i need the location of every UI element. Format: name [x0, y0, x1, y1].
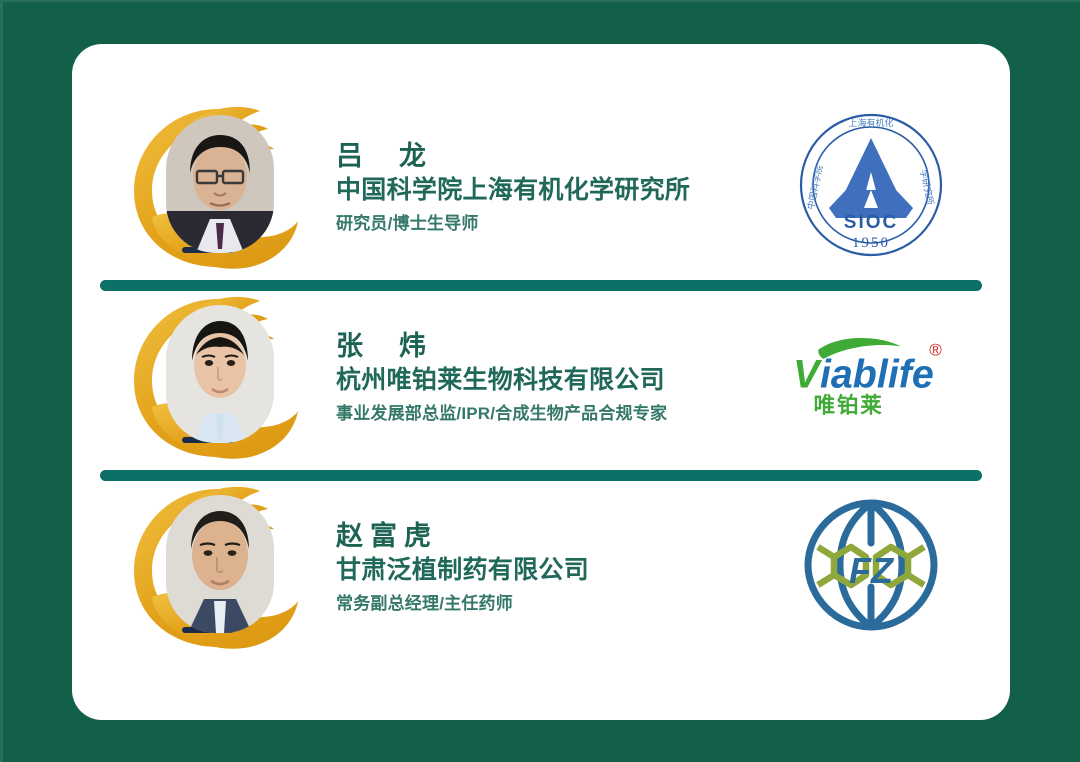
svg-text:学研究所: 学研究所: [918, 169, 936, 207]
speaker-name: 张 炜: [336, 328, 776, 364]
speaker-photo-lyu-long: [166, 115, 274, 253]
fanzhi-globe-logo: FZ: [776, 485, 966, 645]
speaker-row[interactable]: 张 炜 杭州唯铂莱生物科技有限公司 事业发展部总监/IPR/合成生物产品合规专家…: [72, 280, 1010, 470]
sioc-acronym: SIOC: [844, 212, 898, 233]
speaker-organization: 甘肃泛植制药有限公司: [336, 554, 776, 588]
sioc-seal-logo: SIOC 1950 上海有机化 中国科学院 学研究所: [776, 105, 966, 265]
speaker-photo-zhao-fuhu: [166, 495, 274, 633]
viablife-wordmark-rest: iablife: [820, 353, 934, 397]
viablife-wordmark-v: V: [793, 353, 823, 397]
speaker-info: 赵富虎 甘肃泛植制药有限公司 常务副总经理/主任药师: [336, 514, 776, 617]
avatar: [126, 477, 302, 653]
svg-text:中国科学院: 中国科学院: [805, 164, 825, 210]
speaker-row[interactable]: 赵富虎 甘肃泛植制药有限公司 常务副总经理/主任药师: [72, 470, 1010, 660]
speaker-organization: 中国科学院上海有机化学研究所: [336, 174, 776, 208]
speaker-row[interactable]: 吕 龙 中国科学院上海有机化学研究所 研究员/博士生导师 SIOC: [72, 90, 1010, 280]
viablife-logo: V iablife ® 唯铂莱: [776, 295, 966, 455]
speaker-name: 吕 龙: [336, 138, 776, 174]
speaker-photo-zhang-wei: [166, 305, 274, 443]
speaker-organization: 杭州唯铂莱生物科技有限公司: [336, 364, 776, 398]
svg-text:上海有机化: 上海有机化: [848, 117, 893, 128]
speaker-lineup-card: 吕 龙 中国科学院上海有机化学研究所 研究员/博士生导师 SIOC: [72, 44, 1010, 720]
speaker-title: 事业发展部总监/IPR/合成生物产品合规专家: [336, 401, 776, 427]
fanzhi-monogram: FZ: [849, 550, 895, 591]
avatar: [126, 97, 302, 273]
speaker-rows: 吕 龙 中国科学院上海有机化学研究所 研究员/博士生导师 SIOC: [72, 44, 1010, 720]
viablife-chinese-name: 唯铂莱: [814, 393, 884, 418]
speaker-info: 吕 龙 中国科学院上海有机化学研究所 研究员/博士生导师: [336, 134, 776, 237]
avatar: [126, 287, 302, 463]
speaker-title: 研究员/博士生导师: [336, 211, 776, 237]
speaker-name: 赵富虎: [336, 518, 776, 554]
speaker-info: 张 炜 杭州唯铂莱生物科技有限公司 事业发展部总监/IPR/合成生物产品合规专家: [336, 324, 776, 427]
speaker-title: 常务副总经理/主任药师: [336, 591, 776, 617]
registered-mark: ®: [929, 340, 942, 359]
sioc-year: 1950: [852, 235, 890, 251]
